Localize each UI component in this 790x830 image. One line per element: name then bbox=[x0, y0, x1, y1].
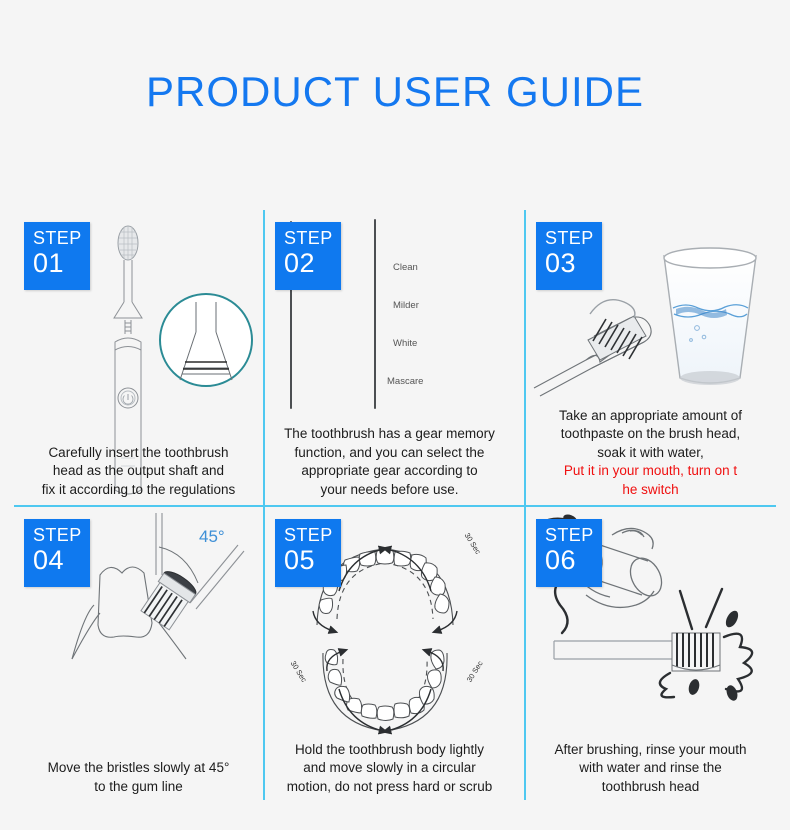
step-caption-05: Hold the toothbrush body lightly and mov… bbox=[269, 741, 510, 797]
step-caption-03: Take an appropriate amount of toothpaste… bbox=[530, 407, 771, 500]
step-card-05: 30 Sec 30 Sec 30 Sec 30 Sec STEP 05 Hold… bbox=[265, 507, 514, 802]
caption-line: toothbrush head bbox=[602, 779, 700, 794]
caption-line: appropriate gear according to bbox=[301, 463, 477, 478]
product-user-guide-page: PRODUCT USER GUIDE bbox=[0, 0, 790, 830]
step-badge-04: STEP 04 bbox=[24, 519, 90, 587]
page-title: PRODUCT USER GUIDE bbox=[0, 68, 790, 116]
caption-line: fix it according to the regulations bbox=[42, 482, 236, 497]
caption-line: soak it with water, bbox=[597, 445, 704, 460]
gear-mode-mascare: Mascare bbox=[387, 376, 423, 387]
step-badge-number-05: 05 bbox=[284, 546, 341, 575]
step-badge-word-03: STEP bbox=[545, 228, 602, 249]
step-caption-06: After brushing, rinse your mouth with wa… bbox=[530, 741, 771, 797]
step-badge-05: STEP 05 bbox=[275, 519, 341, 587]
step-badge-01: STEP 01 bbox=[24, 222, 90, 290]
step-caption-02: The toothbrush has a gear memory functio… bbox=[269, 425, 510, 499]
caption-line: The toothbrush has a gear memory bbox=[284, 426, 495, 441]
caption-line: Take an appropriate amount of bbox=[559, 408, 742, 423]
step-card-01: STEP 01 Carefully insert the toothbrush … bbox=[14, 210, 263, 505]
step-caption-04: Move the bristles slowly at 45° to the g… bbox=[18, 759, 259, 796]
gear-mode-milder: Milder bbox=[393, 300, 419, 311]
caption-line: toothpaste on the brush head, bbox=[561, 426, 740, 441]
caption-alert-line: he switch bbox=[530, 481, 771, 500]
gear-mode-white: White bbox=[393, 338, 417, 349]
step-badge-02: STEP 02 bbox=[275, 222, 341, 290]
step-badge-number-04: 04 bbox=[33, 546, 90, 575]
step-card-04: 45° STEP 04 Move the bristles slowly at … bbox=[14, 507, 263, 802]
step-badge-number-03: 03 bbox=[545, 249, 602, 278]
gear-mode-clean: Clean bbox=[393, 262, 418, 273]
step-badge-word-04: STEP bbox=[33, 525, 90, 546]
step-badge-number-02: 02 bbox=[284, 249, 341, 278]
caption-line: Move the bristles slowly at 45° bbox=[48, 760, 230, 775]
step-badge-number-01: 01 bbox=[33, 249, 90, 278]
step-caption-01: Carefully insert the toothbrush head as … bbox=[18, 444, 259, 500]
step-badge-03: STEP 03 bbox=[536, 222, 602, 290]
step-card-06: STEP 06 After brushing, rinse your mouth… bbox=[526, 507, 775, 802]
caption-line: Carefully insert the toothbrush bbox=[48, 445, 228, 460]
steps-grid: STEP 01 Carefully insert the toothbrush … bbox=[14, 210, 776, 800]
caption-line: motion, do not press hard or scrub bbox=[287, 779, 493, 794]
caption-line: function, and you can select the bbox=[295, 445, 485, 460]
caption-alert-line: Put it in your mouth, turn on t bbox=[530, 462, 771, 481]
step-badge-word-06: STEP bbox=[545, 525, 602, 546]
step-badge-word-05: STEP bbox=[284, 525, 341, 546]
step-badge-number-06: 06 bbox=[545, 546, 602, 575]
caption-line: your needs before use. bbox=[320, 482, 458, 497]
caption-line: Hold the toothbrush body lightly bbox=[295, 742, 484, 757]
step-card-02: Clean Milder White Mascare STEP 02 The t… bbox=[265, 210, 514, 505]
step-card-03: STEP 03 Take an appropriate amount of to… bbox=[526, 210, 775, 505]
step-badge-06: STEP 06 bbox=[536, 519, 602, 587]
caption-line: After brushing, rinse your mouth bbox=[554, 742, 746, 757]
caption-line: and move slowly in a circular bbox=[303, 760, 476, 775]
step-badge-word-01: STEP bbox=[33, 228, 90, 249]
caption-line: with water and rinse the bbox=[579, 760, 722, 775]
angle-label-45: 45° bbox=[199, 527, 225, 547]
caption-line: head as the output shaft and bbox=[53, 463, 224, 478]
caption-line: to the gum line bbox=[94, 779, 183, 794]
step-badge-word-02: STEP bbox=[284, 228, 341, 249]
